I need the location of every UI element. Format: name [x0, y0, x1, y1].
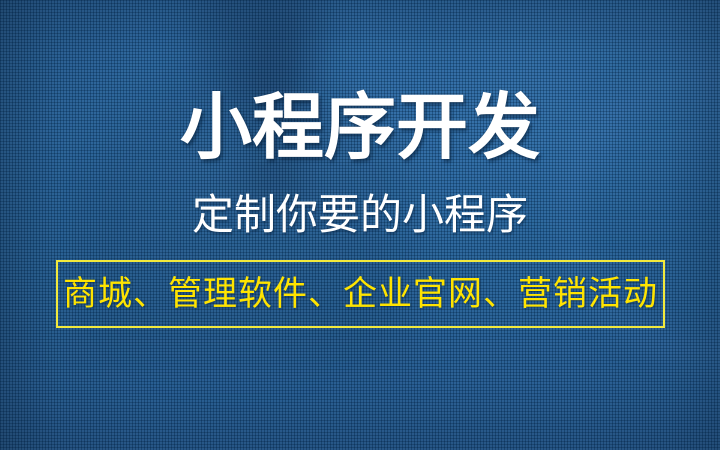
banner-content: 小程序开发 定制你要的小程序 商城、管理软件、企业官网、营销活动: [0, 0, 720, 450]
tagline-text: 商城、管理软件、企业官网、营销活动: [63, 273, 658, 315]
promo-banner: 小程序开发 定制你要的小程序 商城、管理软件、企业官网、营销活动: [0, 0, 720, 450]
banner-title: 小程序开发: [0, 86, 720, 170]
tagline-box: 商城、管理软件、企业官网、营销活动: [56, 260, 665, 328]
banner-subtitle: 定制你要的小程序: [0, 190, 720, 240]
